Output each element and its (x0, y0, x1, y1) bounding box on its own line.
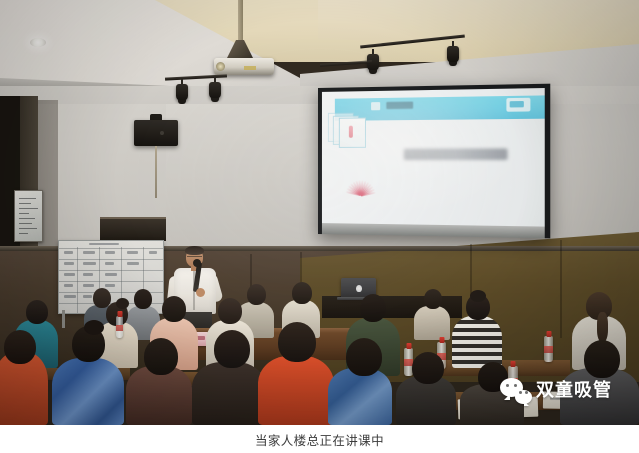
slide-thumbnail-front (339, 118, 366, 148)
wechat-logo-icon (500, 378, 532, 404)
ceiling-beige-panel-right (318, 0, 639, 40)
recessed-light-icon (30, 38, 46, 47)
attendee-mid-6-hair-bun (470, 290, 486, 302)
attendee-front-6-head (346, 338, 382, 376)
attendee-back-2-head (134, 289, 152, 309)
whiteboard-leg (62, 310, 65, 328)
attendee-front-4-head (214, 330, 250, 368)
projection-screen (318, 84, 550, 239)
lecturer-hair (185, 246, 204, 255)
wainscot-seam-4 (560, 240, 562, 338)
attendee-back-3-head (247, 284, 266, 305)
slide-radial-graphic (335, 163, 387, 198)
speaker-cone-icon (160, 131, 164, 135)
wall-niche (100, 217, 166, 241)
attendee-back-5-head (424, 289, 442, 309)
caption-bar: 当家人楼总正在讲课中 (0, 425, 639, 453)
wall-speaker (134, 120, 178, 146)
attendee-front-9-head (584, 340, 620, 378)
attendee-mid-2-hair-bun (116, 298, 129, 309)
spotlight-icon-1 (176, 84, 188, 101)
attendee-front-7-head (412, 352, 444, 384)
framed-notice (14, 190, 43, 242)
attendee-back-5-torso (414, 306, 450, 340)
slide-header-badge (371, 102, 380, 110)
projector-mount-pole (238, 0, 243, 46)
apple-logo-icon (356, 285, 362, 292)
slide-header-icon (507, 97, 531, 111)
watermark: 双童吸管 (500, 378, 612, 404)
attendee-front-2-torso-patterned (52, 358, 124, 425)
slide-header-text-blur (386, 101, 413, 109)
lecture-photo: 双童吸管 (0, 0, 639, 425)
attendee-front-6-torso-patterned (328, 368, 392, 425)
attendee-mid-3-head (162, 296, 186, 322)
attendee-back-4-head (292, 282, 312, 304)
screenshot-root: 双童吸管 当家人楼总正在讲课中 (0, 0, 639, 453)
projector-lens-icon (216, 62, 225, 71)
attendee-front-5-torso (258, 356, 334, 425)
watermark-brand-text: 双童吸管 (536, 382, 612, 400)
water-bottle-3 (116, 316, 123, 338)
spotlight-icon-2 (209, 82, 221, 99)
attendee-front-3-head (144, 338, 178, 375)
slide-thumbnail-figure (349, 126, 353, 138)
attendee-mid-6-torso-striped (452, 316, 502, 368)
speaker-cable (155, 146, 157, 198)
attendee-mid-4-head (218, 298, 242, 324)
projector-cable (244, 66, 256, 70)
projected-slide (322, 88, 545, 228)
attendee-front-2-hair-bun (84, 320, 104, 335)
attendee-mid-1-head (26, 300, 48, 324)
lecturer-hand (196, 288, 205, 297)
spotlight-icon-4 (447, 46, 459, 63)
attendee-front-4-torso (192, 362, 266, 425)
slide-title-text-blur (404, 148, 508, 160)
attendee-front-1-head (4, 330, 36, 364)
photo-caption: 当家人楼总正在讲课中 (255, 430, 384, 449)
water-bottle-6 (544, 336, 553, 362)
attendee-front-5-head (278, 322, 316, 362)
microphone-head-icon (193, 259, 201, 267)
attendee-mid-7-ponytail (597, 312, 608, 342)
attendee-mid-5-head (360, 294, 386, 322)
